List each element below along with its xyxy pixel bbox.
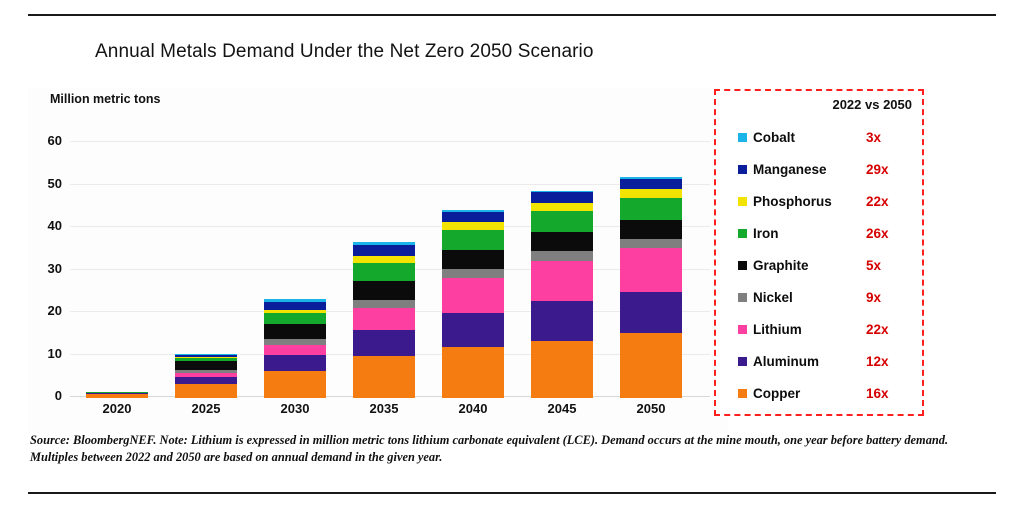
bar-segment-lithium[interactable] bbox=[442, 278, 504, 313]
legend-swatch-icon bbox=[738, 389, 747, 398]
legend-item[interactable]: Copper16x bbox=[716, 377, 922, 409]
bar-segment-copper[interactable] bbox=[175, 384, 237, 398]
legend-swatch-icon bbox=[738, 325, 747, 334]
bar-segment-copper[interactable] bbox=[353, 356, 415, 398]
legend-item[interactable]: Nickel9x bbox=[716, 281, 922, 313]
bar-segment-copper[interactable] bbox=[620, 333, 682, 398]
bar-segment-aluminum[interactable] bbox=[264, 355, 326, 371]
chart-plot-area: Million metric tons 0102030405060 202020… bbox=[28, 88, 728, 433]
y-axis-tick-label: 60 bbox=[28, 133, 62, 148]
source-note: Source: BloombergNEF. Note: Lithium is e… bbox=[30, 432, 995, 465]
bar-segment-manganese[interactable] bbox=[264, 302, 326, 310]
legend-item[interactable]: Iron26x bbox=[716, 217, 922, 249]
legend-swatch-icon bbox=[738, 197, 747, 206]
legend-item[interactable]: Phosphorus22x bbox=[716, 185, 922, 217]
legend-item[interactable]: Aluminum12x bbox=[716, 345, 922, 377]
legend-swatch-icon bbox=[738, 229, 747, 238]
legend-multiple-value: 22x bbox=[866, 194, 889, 209]
legend-label: Lithium bbox=[753, 322, 802, 337]
legend-swatch-icon bbox=[738, 293, 747, 302]
page-title: Annual Metals Demand Under the Net Zero … bbox=[95, 41, 594, 63]
bar-segment-copper[interactable] bbox=[86, 394, 148, 398]
bar-segment-iron[interactable] bbox=[264, 313, 326, 324]
bar-segment-graphite[interactable] bbox=[264, 324, 326, 339]
legend-label: Nickel bbox=[753, 290, 793, 305]
legend-swatch-icon bbox=[738, 261, 747, 270]
bar-segment-lithium[interactable] bbox=[264, 345, 326, 354]
bar-stack[interactable] bbox=[264, 299, 326, 398]
bar-segment-lithium[interactable] bbox=[353, 308, 415, 330]
bar-segment-aluminum[interactable] bbox=[175, 377, 237, 384]
legend-item[interactable]: Graphite5x bbox=[716, 249, 922, 281]
bar-segment-copper[interactable] bbox=[442, 347, 504, 398]
legend-label: Aluminum bbox=[753, 354, 819, 369]
x-axis-tick-label: 2040 bbox=[442, 401, 504, 416]
bar-segment-aluminum[interactable] bbox=[442, 313, 504, 347]
legend-item[interactable]: Manganese29x bbox=[716, 153, 922, 185]
legend-label: Cobalt bbox=[753, 130, 795, 145]
top-divider-rule bbox=[28, 14, 996, 16]
y-axis-tick-label: 30 bbox=[28, 261, 62, 276]
bar-stack[interactable] bbox=[353, 242, 415, 398]
bar-segment-phosphorus[interactable] bbox=[620, 189, 682, 198]
x-axis-tick-label: 2045 bbox=[531, 401, 593, 416]
bar-segment-iron[interactable] bbox=[620, 198, 682, 220]
bar-segment-manganese[interactable] bbox=[442, 212, 504, 222]
x-axis-tick-label: 2035 bbox=[353, 401, 415, 416]
y-axis-tick-label: 10 bbox=[28, 346, 62, 361]
legend-item[interactable]: Lithium22x bbox=[716, 313, 922, 345]
x-axis-tick-label: 2020 bbox=[86, 401, 148, 416]
bar-segment-aluminum[interactable] bbox=[353, 330, 415, 356]
bar-stack[interactable] bbox=[531, 191, 593, 398]
bar-segment-copper[interactable] bbox=[264, 371, 326, 398]
bar-stack[interactable] bbox=[86, 392, 148, 398]
bottom-divider-rule bbox=[28, 492, 996, 494]
legend-panel: 2022 vs 2050 Cobalt3xManganese29xPhospho… bbox=[714, 89, 924, 416]
legend-label: Phosphorus bbox=[753, 194, 832, 209]
bar-segment-nickel[interactable] bbox=[442, 269, 504, 278]
bar-stack[interactable] bbox=[442, 210, 504, 398]
bar-segment-aluminum[interactable] bbox=[531, 301, 593, 341]
legend-label: Graphite bbox=[753, 258, 809, 273]
legend-multiple-value: 9x bbox=[866, 290, 881, 305]
legend-multiple-value: 26x bbox=[866, 226, 889, 241]
bar-segment-aluminum[interactable] bbox=[620, 292, 682, 333]
bar-segment-copper[interactable] bbox=[531, 341, 593, 398]
bar-segment-manganese[interactable] bbox=[353, 245, 415, 256]
bar-segment-graphite[interactable] bbox=[620, 220, 682, 239]
bar-segment-graphite[interactable] bbox=[531, 232, 593, 251]
bar-segment-phosphorus[interactable] bbox=[442, 222, 504, 230]
bar-segment-phosphorus[interactable] bbox=[353, 256, 415, 263]
legend-multiple-value: 5x bbox=[866, 258, 881, 273]
bar-segment-lithium[interactable] bbox=[531, 261, 593, 301]
legend-multiple-value: 12x bbox=[866, 354, 889, 369]
bar-segment-nickel[interactable] bbox=[353, 300, 415, 309]
legend-label: Copper bbox=[753, 386, 800, 401]
bar-segment-graphite[interactable] bbox=[353, 281, 415, 300]
legend-swatch-icon bbox=[738, 165, 747, 174]
legend-label: Iron bbox=[753, 226, 779, 241]
bar-segment-iron[interactable] bbox=[531, 211, 593, 232]
bar-segment-phosphorus[interactable] bbox=[531, 203, 593, 212]
legend-multiple-value: 3x bbox=[866, 130, 881, 145]
legend-multiple-value: 22x bbox=[866, 322, 889, 337]
bar-segment-lithium[interactable] bbox=[620, 248, 682, 292]
legend-swatch-icon bbox=[738, 133, 747, 142]
x-axis-tick-label: 2025 bbox=[175, 401, 237, 416]
x-axis-tick-label: 2030 bbox=[264, 401, 326, 416]
bar-segment-iron[interactable] bbox=[353, 263, 415, 280]
bar-segment-iron[interactable] bbox=[442, 230, 504, 250]
bar-segment-graphite[interactable] bbox=[442, 250, 504, 269]
legend-item[interactable]: Cobalt3x bbox=[716, 121, 922, 153]
y-axis-tick-label: 50 bbox=[28, 176, 62, 191]
bar-segment-graphite[interactable] bbox=[175, 361, 237, 370]
bar-stack[interactable] bbox=[620, 177, 682, 398]
legend-multiple-value: 29x bbox=[866, 162, 889, 177]
y-axis-tick-label: 20 bbox=[28, 303, 62, 318]
bar-segment-nickel[interactable] bbox=[531, 251, 593, 261]
legend-multiple-value: 16x bbox=[866, 386, 889, 401]
legend-label: Manganese bbox=[753, 162, 827, 177]
y-axis-tick-label: 0 bbox=[28, 388, 62, 403]
bar-stack[interactable] bbox=[175, 354, 237, 398]
bar-segment-manganese[interactable] bbox=[531, 192, 593, 202]
legend-swatch-icon bbox=[738, 357, 747, 366]
bar-segment-nickel[interactable] bbox=[620, 239, 682, 248]
x-axis-tick-label: 2050 bbox=[620, 401, 682, 416]
bar-segment-manganese[interactable] bbox=[620, 179, 682, 189]
y-axis-tick-label: 40 bbox=[28, 218, 62, 233]
legend-rows: Cobalt3xManganese29xPhosphorus22xIron26x… bbox=[716, 121, 922, 409]
bar-series-container bbox=[70, 88, 710, 398]
legend-header: 2022 vs 2050 bbox=[832, 97, 912, 112]
